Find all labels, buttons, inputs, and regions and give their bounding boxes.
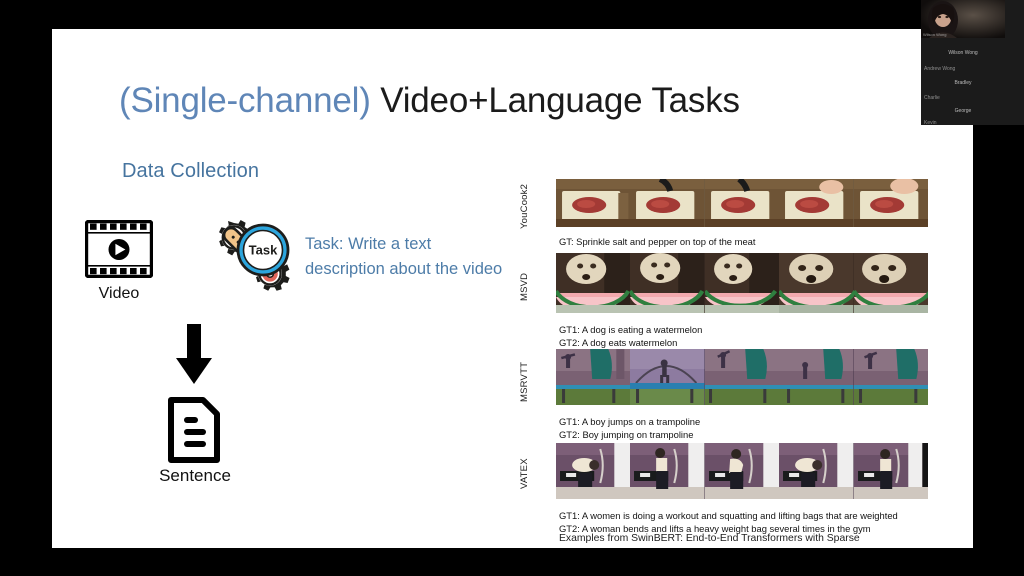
- self-view-name: Wilson Wong: [923, 32, 947, 37]
- video-frame: [705, 179, 779, 227]
- video-frame-strip-msvd: [556, 253, 928, 313]
- caption-gt: GT1: A boy jumps on a trampoline: [559, 416, 700, 427]
- presentation-slide: (Single-channel) Video+Language Tasks Da…: [52, 29, 973, 548]
- video-frame-strip-vatex: [556, 443, 928, 499]
- caption-gt: GT1: A dog is eating a watermelon: [559, 324, 702, 335]
- dataset-label-vatex: VATEX: [519, 446, 530, 502]
- film-strip-play-icon: [85, 220, 153, 278]
- video-frame: [779, 179, 853, 227]
- task-icon-text: Task: [249, 243, 278, 258]
- caption-gt: GT2: A dog eats watermelon: [559, 337, 677, 348]
- participant-name[interactable]: Andrew Wong: [924, 66, 955, 72]
- video-call-panel[interactable]: Wilson Wong Wilson Wong Andrew Wong Brad…: [921, 0, 1024, 125]
- video-frame: [705, 443, 779, 499]
- magnifier-gears-task-icon: Task: [207, 217, 301, 303]
- participant-name[interactable]: Wilson Wong: [921, 50, 1005, 56]
- video-label: Video: [85, 285, 153, 303]
- page-title: (Single-channel) Video+Language Tasks: [119, 80, 740, 122]
- video-frame: [630, 253, 704, 313]
- participant-name[interactable]: George: [921, 108, 1005, 114]
- video-frame: [630, 443, 704, 499]
- video-frame: [854, 179, 928, 227]
- caption-gt: GT2: Boy jumping on trampoline: [559, 429, 693, 440]
- document-lines-icon: [167, 397, 221, 463]
- video-frame-strip-youcook2: [556, 179, 928, 227]
- section-heading: Data Collection: [122, 160, 259, 183]
- participant-name[interactable]: Charlie: [924, 95, 940, 101]
- caption-gt: GT1: A women is doing a workout and squa…: [559, 510, 898, 521]
- down-arrow-icon: [174, 324, 214, 386]
- task-description-line-1: Task: Write a text: [305, 232, 535, 257]
- video-frame: [630, 179, 704, 227]
- video-frame: [556, 349, 630, 405]
- source-credit: Examples from SwinBERT: End-to-End Trans…: [559, 531, 889, 548]
- task-description: Task: Write a text description about the…: [305, 232, 535, 282]
- video-frame: [556, 443, 630, 499]
- self-view-tile[interactable]: Wilson Wong: [921, 0, 1005, 38]
- video-frame: [854, 443, 928, 499]
- screen-backdrop: (Single-channel) Video+Language Tasks Da…: [0, 0, 1024, 576]
- video-frame: [779, 349, 853, 405]
- video-frame: [854, 349, 928, 405]
- dataset-label-msrvtt: MSRVTT: [519, 351, 530, 413]
- video-frame: [556, 253, 630, 313]
- video-frame-strip-msrvtt: [556, 349, 928, 405]
- video-frame: [705, 253, 779, 313]
- page-title-rest: Video+Language Tasks: [380, 81, 740, 120]
- video-frame: [779, 253, 853, 313]
- video-frame: [854, 253, 928, 313]
- task-description-line-2: description about the video: [305, 257, 535, 282]
- dataset-label-msvd: MSVD: [519, 258, 530, 316]
- video-frame: [779, 443, 853, 499]
- participant-name[interactable]: Kevin: [924, 120, 937, 125]
- credit-line-1: Examples from SwinBERT: End-to-End Trans…: [559, 531, 889, 547]
- video-frame: [556, 179, 630, 227]
- sentence-label: Sentence: [142, 466, 248, 486]
- credit-line-2: Attention for Video Captioning, CVPR 202…: [559, 547, 889, 549]
- video-frame: [630, 349, 704, 405]
- dataset-label-youcook2: YouCook2: [519, 179, 530, 233]
- page-title-highlight: (Single-channel): [119, 81, 371, 120]
- video-frame: [705, 349, 779, 405]
- caption-gt: GT: Sprinkle salt and pepper on top of t…: [559, 236, 755, 247]
- participant-name[interactable]: Bradley: [921, 80, 1005, 86]
